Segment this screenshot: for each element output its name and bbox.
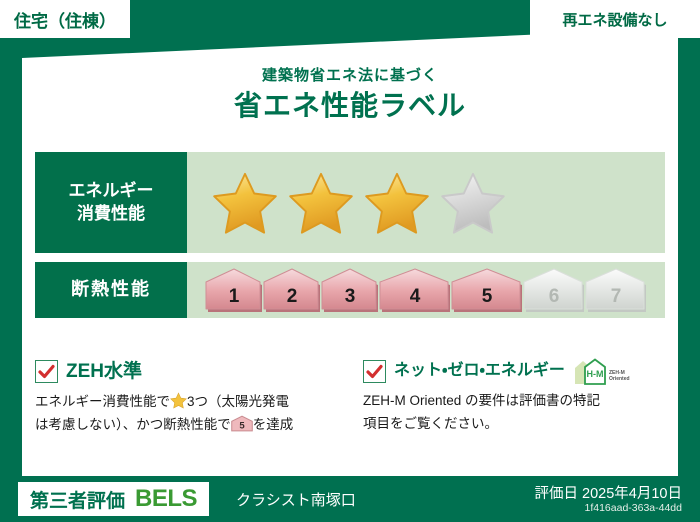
net-zero-energy-heading: ネット・ゼロ・エネルギー H-M ZEH-M Oriented bbox=[363, 356, 665, 386]
star-filled-icon bbox=[363, 170, 431, 236]
svg-text:H-M: H-M bbox=[586, 369, 603, 379]
net-zero-energy-body: ZEH-M Oriented の要件は評価書の特記 項目をご覧ください。 bbox=[363, 390, 665, 436]
energy-label-line2: 消費性能 bbox=[77, 203, 145, 225]
insulation-level-number: 2 bbox=[263, 286, 321, 308]
insulation-performance-row-body: 1234567 bbox=[187, 262, 665, 318]
net-zero-energy-note: ネット・ゼロ・エネルギー H-M ZEH-M Oriented ZEH-M Or… bbox=[363, 356, 665, 436]
zeh-standard-title: ZEH水準 bbox=[66, 356, 142, 387]
category-tag: 住宅（住棟） bbox=[0, 0, 130, 38]
insulation-level-badge: 3 bbox=[321, 268, 379, 312]
energy-performance-row: エネルギー 消費性能 bbox=[35, 152, 665, 253]
category-tag-label: 住宅（住棟） bbox=[14, 7, 116, 32]
star-filled-icon bbox=[211, 170, 279, 236]
label-footer: 第三者評価 BELS クラシスト南塚口 評価日 2025年4月10日 1f416… bbox=[0, 476, 700, 522]
zeh-body-part4: を達成 bbox=[253, 417, 294, 432]
insulation-level-number: 7 bbox=[585, 286, 647, 308]
energy-performance-row-label: エネルギー 消費性能 bbox=[35, 152, 187, 253]
renewable-energy-tag-label: 再エネ設備なし bbox=[562, 9, 667, 30]
svg-text:5: 5 bbox=[239, 421, 245, 432]
zeh-standard-heading: ZEH水準 bbox=[35, 356, 355, 387]
star-rating bbox=[211, 170, 507, 236]
energy-label-line1: エネルギー bbox=[69, 180, 154, 202]
zeh-body-part3: は考慮しない）、かつ断熱性能で bbox=[35, 417, 231, 432]
net-zero-body-line1: ZEH-M Oriented の要件は評価書の特記 bbox=[363, 393, 600, 408]
energy-performance-row-body bbox=[187, 152, 665, 253]
inline-star-icon bbox=[170, 392, 187, 409]
insulation-level-number: 4 bbox=[379, 286, 451, 308]
page-title: 省エネ性能ラベル bbox=[0, 84, 700, 124]
building-name: クラシスト南塚口 bbox=[236, 489, 356, 510]
insulation-level-number: 5 bbox=[451, 286, 523, 308]
bels-badge: 第三者評価 BELS bbox=[18, 482, 209, 516]
star-filled-icon bbox=[287, 170, 355, 236]
insulation-level-badge: 5 bbox=[451, 268, 523, 312]
insulation-level-badge: 2 bbox=[263, 268, 321, 312]
evaluation-date: 評価日 2025年4月10日 bbox=[535, 482, 682, 503]
svg-text:Oriented: Oriented bbox=[609, 376, 630, 382]
star-empty-icon bbox=[439, 170, 507, 236]
check-icon bbox=[363, 360, 386, 383]
check-icon bbox=[35, 360, 58, 383]
insulation-level-scale: 1234567 bbox=[205, 268, 647, 312]
net-zero-body-line2: 項目をご覧ください。 bbox=[363, 416, 498, 431]
zeh-body-part2: 3つ（太陽光発電 bbox=[187, 394, 289, 409]
bels-en-label: BELS bbox=[135, 485, 197, 513]
bels-jp-label: 第三者評価 bbox=[30, 486, 125, 513]
insulation-label: 断熱性能 bbox=[71, 278, 151, 301]
net-zero-energy-title: ネット・ゼロ・エネルギー bbox=[394, 358, 565, 384]
label-subtitle: 建築物省エネ法に基づく bbox=[0, 64, 700, 85]
inline-level-badge-icon: 5 bbox=[231, 415, 253, 432]
evaluation-id: 1f416aad-363a-44dd bbox=[584, 502, 682, 514]
insulation-level-number: 3 bbox=[321, 286, 379, 308]
insulation-level-badge: 6 bbox=[523, 268, 585, 312]
energy-performance-label: 住宅（住棟） 再エネ設備なし 建築物省エネ法に基づく 省エネ性能ラベル エネルギ… bbox=[0, 0, 700, 522]
zeh-m-oriented-logo-icon: H-M ZEH-M Oriented bbox=[573, 356, 631, 386]
insulation-level-badge: 1 bbox=[205, 268, 263, 312]
zeh-standard-note: ZEH水準 エネルギー消費性能で3つ（太陽光発電 は考慮しない）、かつ断熱性能で… bbox=[35, 356, 355, 437]
zeh-body-part1: エネルギー消費性能で bbox=[35, 394, 170, 409]
insulation-level-badge: 4 bbox=[379, 268, 451, 312]
insulation-level-number: 6 bbox=[523, 286, 585, 308]
renewable-energy-tag: 再エネ設備なし bbox=[530, 0, 700, 38]
zeh-standard-body: エネルギー消費性能で3つ（太陽光発電 は考慮しない）、かつ断熱性能で5を達成 bbox=[35, 391, 355, 437]
insulation-performance-row-label: 断熱性能 bbox=[35, 262, 187, 318]
insulation-performance-row: 断熱性能 1234567 bbox=[35, 262, 665, 318]
insulation-level-number: 1 bbox=[205, 286, 263, 308]
insulation-level-badge: 7 bbox=[585, 268, 647, 312]
